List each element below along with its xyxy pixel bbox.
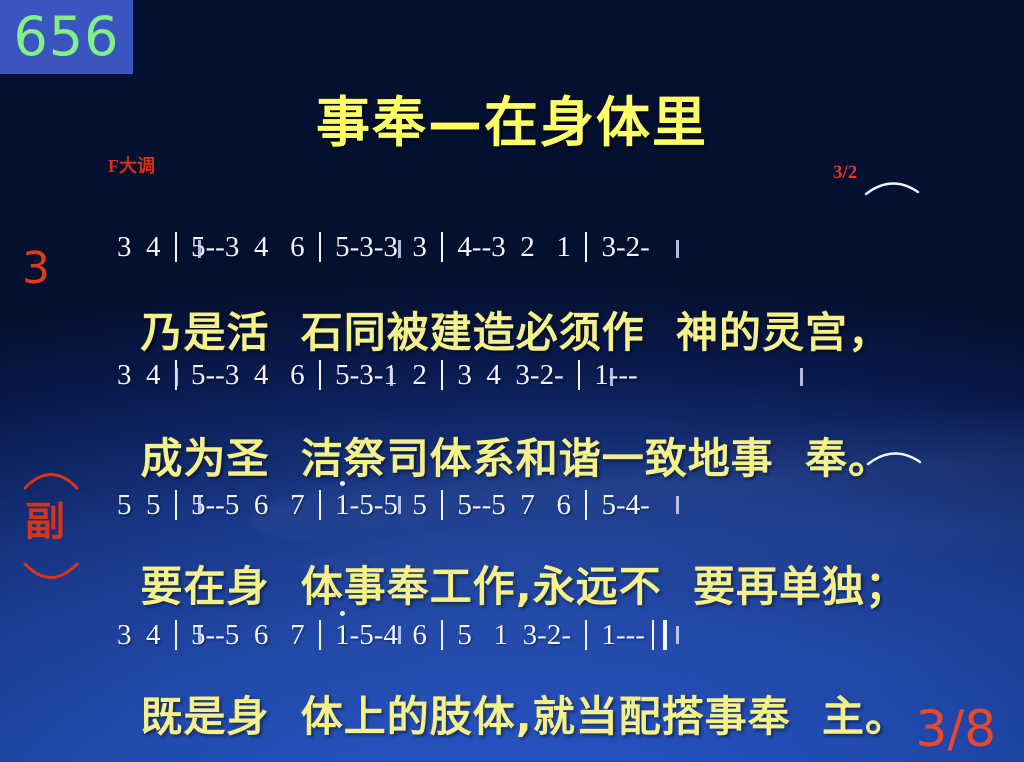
slur-arc-line3-icon	[866, 446, 922, 466]
lyric-tick	[398, 626, 401, 644]
page-title: 事奉—在身体里	[0, 78, 1024, 157]
meter-mark-label: 3/2	[833, 162, 857, 184]
lyric-tick	[390, 368, 393, 386]
hymn-number: 656	[13, 10, 119, 64]
page-indicator: 3/8	[916, 704, 996, 754]
lyric-tick	[198, 496, 201, 514]
lyric-tick	[676, 626, 679, 644]
lyric-tick	[198, 240, 201, 258]
key-signature-label: F大调	[108, 152, 155, 178]
hymn-number-badge: 656	[0, 0, 133, 74]
lyric-tick	[398, 496, 401, 514]
lyric-tick	[610, 368, 613, 386]
chorus-arc-top-icon	[22, 464, 80, 490]
lyrics-text: 既是身 体上的肢体,就当配搭事奉 主。	[141, 692, 908, 741]
hymn-slide: 656 事奉—在身体里 F大调 3/2 3 副 3 4 5--3 4 6 5-3…	[0, 0, 1024, 762]
lyric-tick	[800, 368, 803, 386]
slur-arc-icon	[864, 176, 920, 196]
chorus-arc-bottom-icon	[22, 562, 80, 588]
lyric-tick	[398, 240, 401, 258]
chorus-marker: 副	[22, 458, 84, 594]
lyric-tick	[676, 240, 679, 258]
lyric-tick	[676, 496, 679, 514]
stanza-number: 3	[22, 247, 50, 291]
lyric-tick	[198, 626, 201, 644]
chorus-marker-label: 副	[25, 502, 65, 542]
lyrics-line-4: 既是身 体上的肢体,就当配搭事奉 主。	[78, 634, 908, 762]
lyric-tick	[175, 368, 178, 386]
